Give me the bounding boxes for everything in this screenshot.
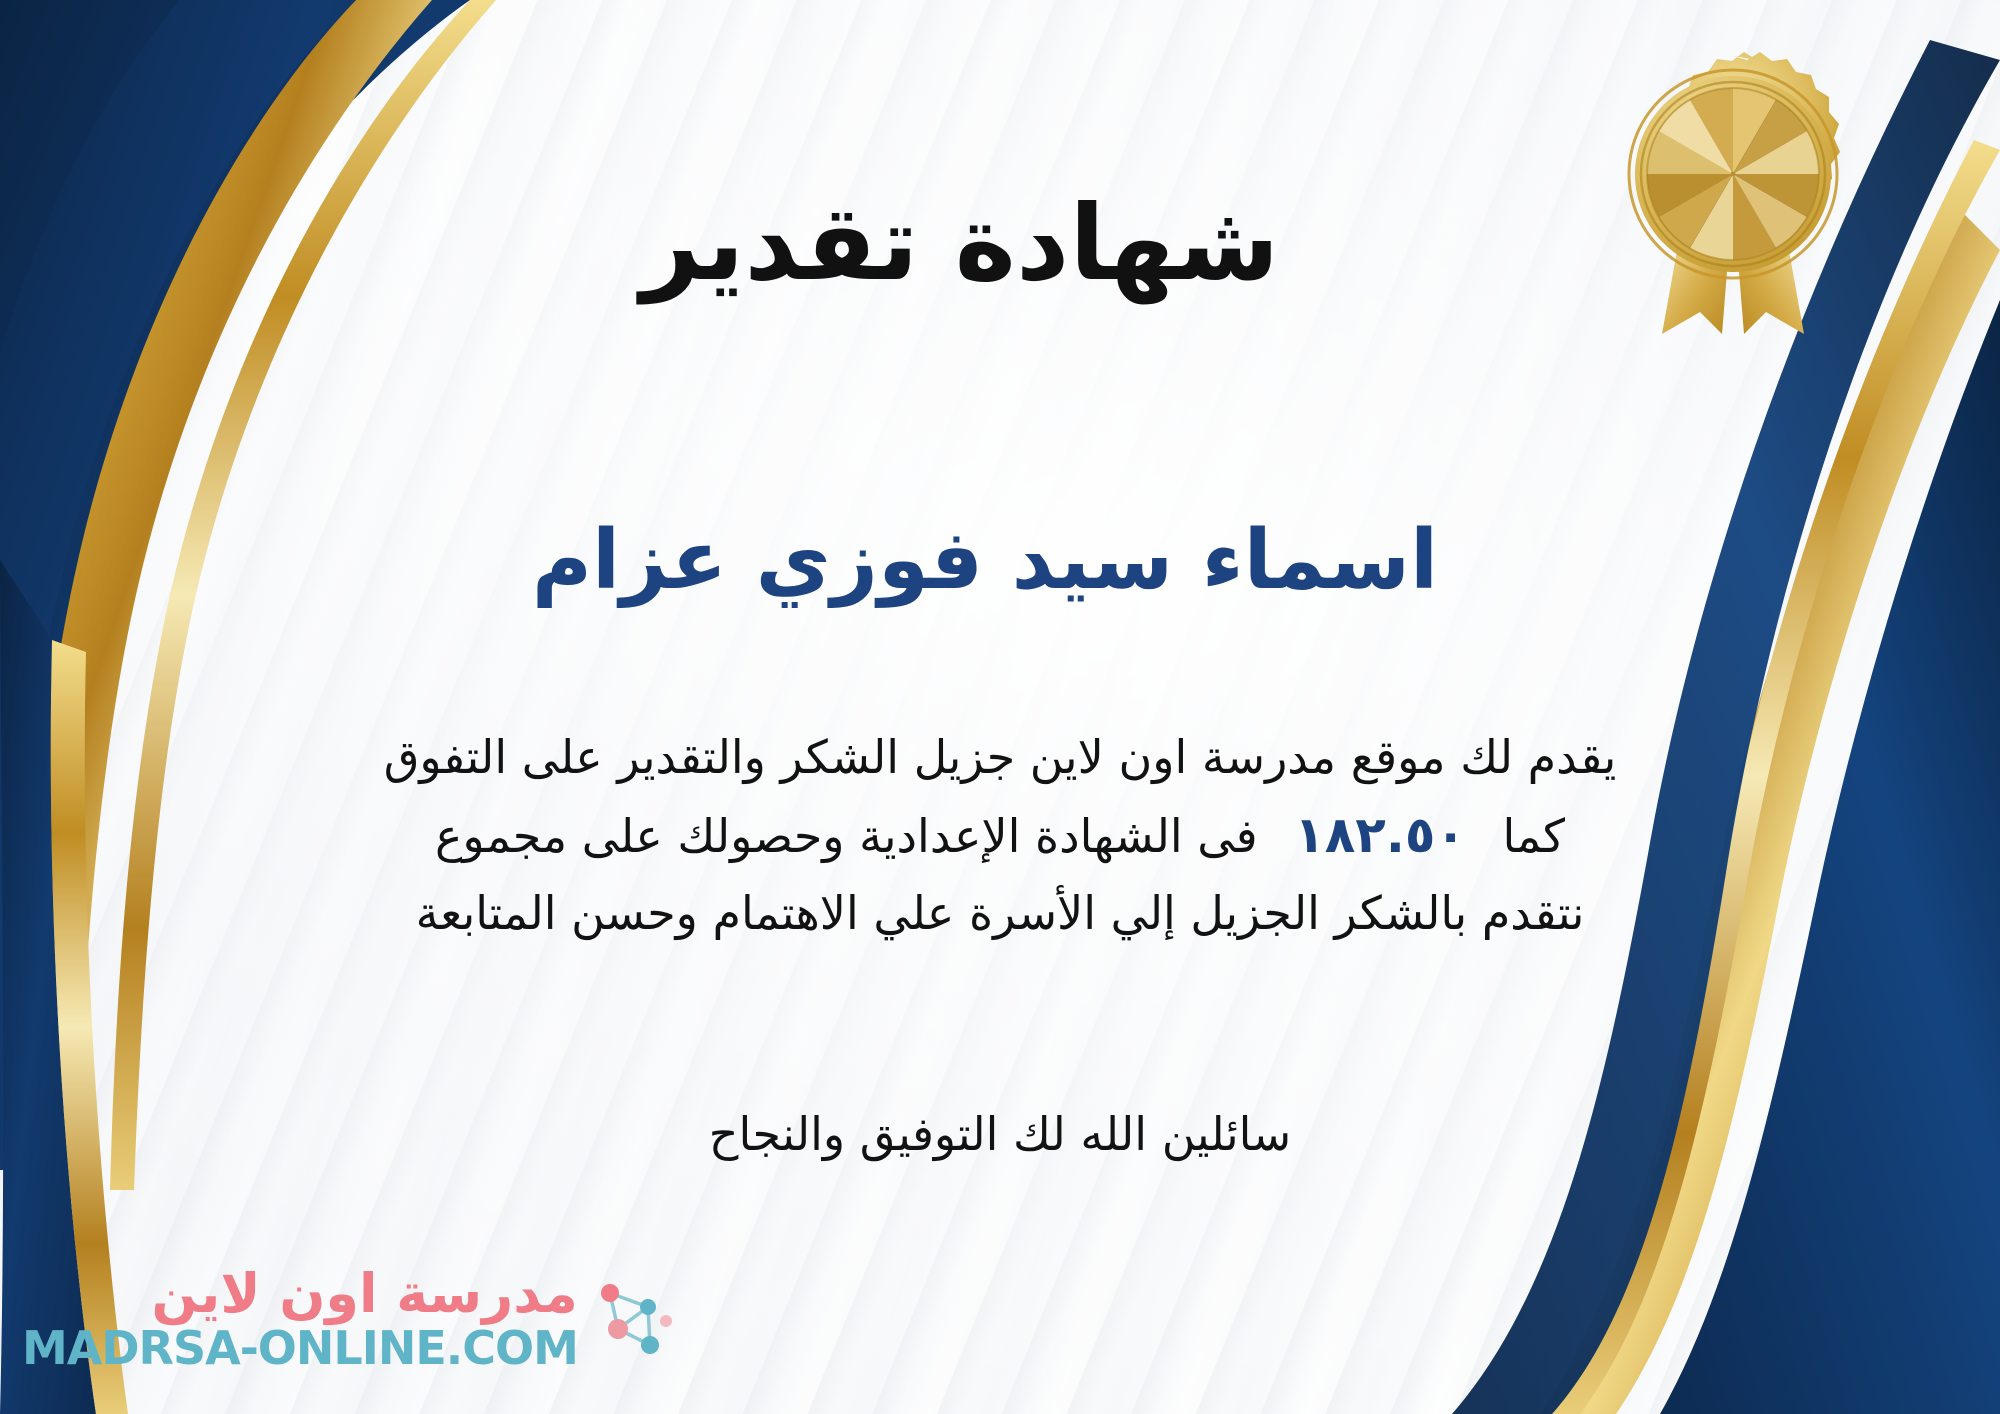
body-line-2-left-text: كما — [1502, 809, 1565, 863]
gold-award-medal-icon — [1588, 34, 1878, 344]
body-line-2: كما ١٨٢.٥٠ فى الشهادة الإعدادية وحصولك ع… — [95, 795, 1905, 876]
recipient-name: اسماء سيد فوزي عزام — [0, 512, 2000, 610]
certificate-canvas: شهادة تقدير اسماء سيد فوزي عزام يقدم لك … — [0, 0, 2000, 1414]
network-nodes-icon — [588, 1273, 674, 1365]
brand-website-url: MADRSA-ONLINE.COM — [22, 1324, 578, 1372]
total-score-value: ١٨٢.٥٠ — [1272, 806, 1488, 864]
brand-logo[interactable]: مدرسة اون لاين MADRSA-ONLINE.COM — [22, 1265, 674, 1372]
brand-logo-text: مدرسة اون لاين MADRSA-ONLINE.COM — [22, 1265, 578, 1372]
medal-center-disc — [1647, 88, 1819, 260]
body-line-2-right-text: فى الشهادة الإعدادية وحصولك على مجموع — [435, 809, 1258, 863]
closing-wish-text: سائلين الله لك التوفيق والنجاح — [0, 1100, 2000, 1169]
certificate-body-text: يقدم لك موقع مدرسة اون لاين جزيل الشكر و… — [95, 720, 1905, 950]
body-line-1: يقدم لك موقع مدرسة اون لاين جزيل الشكر و… — [95, 720, 1905, 795]
body-line-3: نتقدم بالشكر الجزيل إلي الأسرة علي الاهت… — [95, 876, 1905, 951]
brand-arabic-name: مدرسة اون لاين — [151, 1265, 577, 1323]
